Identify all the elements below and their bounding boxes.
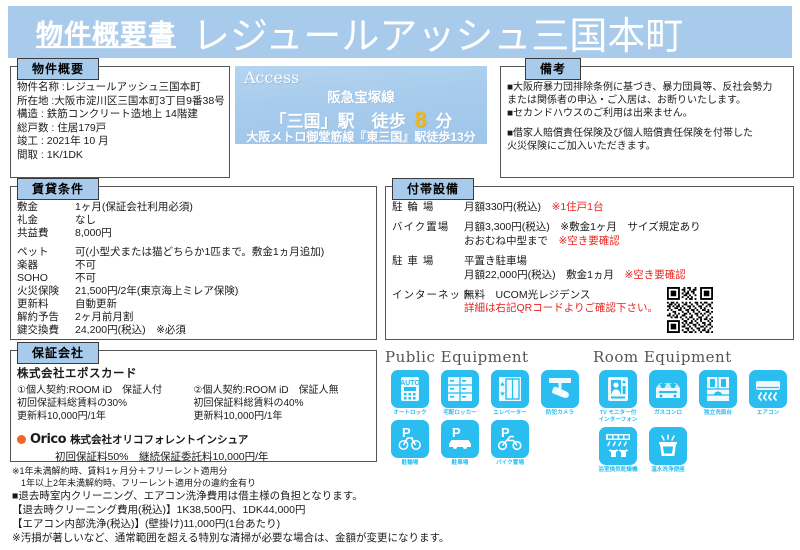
rent-condition-row: 鍵交換費24,200円(税込) ※必須 <box>17 324 370 337</box>
overview-line: 構造 : 鉄筋コンクリート造地上 14階建 <box>17 108 223 122</box>
rent-condition-row: SOHO不可 <box>17 272 370 285</box>
rent-condition-value: 1ヶ月(保証会社利用必須) <box>75 201 370 214</box>
footnote-line: ※1年未満解約時、賃料1ヶ月分＋フリーレント適用分 <box>12 466 412 478</box>
remarks-body: ■大阪府暴力団排除条例に基づき、暴力団員等、反社会勢力または関係者の申込・ご入居… <box>501 67 793 157</box>
rent-condition-label: 敷金 <box>17 201 75 214</box>
guarantee-plan-line: ①個人契約:ROOM iD 保証人付 <box>17 384 194 397</box>
public-equipment-item: P駐輪場 <box>385 420 435 467</box>
rent-condition-row: 楽器不可 <box>17 259 370 272</box>
rent-conditions-body: 敷金1ヶ月(保証会社利用必須)礼金なし共益費8,000円ペット可(小型犬または猫… <box>11 187 376 341</box>
rent-condition-label: SOHO <box>17 272 75 285</box>
overview-line: 総戸数 : 住居179戸 <box>17 122 223 136</box>
rent-condition-row: 更新料自動更新 <box>17 298 370 311</box>
room-equipment-item: 浴室換気乾燥機 <box>593 427 643 474</box>
facility-sub-row: おおむね中型まで ※空き要確認 <box>464 235 787 248</box>
rent-condition-row: ペット可(小型犬または猫どちらか1匹まで。敷金1ヵ月追加) <box>17 246 370 259</box>
orico-fee-text: 初回保証料50% 継続保証委託料10,000円/年 <box>55 449 370 464</box>
facility-sub-row: 月額22,000円(税込) 敷金1ヵ月 ※空き要確認 <box>464 269 787 282</box>
room-equipment-label: 浴室換気乾燥機 <box>598 467 637 474</box>
room-equipment-title: Room Equipment <box>593 348 795 366</box>
rent-condition-label: 楽器 <box>17 259 75 272</box>
rent-condition-label: 解約予告 <box>17 311 75 324</box>
facility-row: インターネット無料 UCOM光レジデンス <box>392 289 787 302</box>
footnote-line: 【退去時クリーニング費用(税込)】1K38,500円、1DK44,000円 <box>12 503 412 517</box>
motorbike-parking-icon: P <box>491 420 529 458</box>
orico-logo-row: Orico 株式会社オリコフォレントインシュア <box>17 432 370 447</box>
remarks-tab: 備考 <box>525 58 581 80</box>
public-equipment-item: AUTOオートロック <box>385 370 435 417</box>
guarantee-plan-line: 初回保証料総賃料の30% <box>17 397 194 410</box>
footnote-line: 1年以上2年未満解約時、フリーレント適用分の違約金有り <box>12 478 412 490</box>
qr-code-graphic <box>667 287 713 333</box>
tv-monitor-intercom-icon <box>599 370 637 408</box>
car-parking-icon: P <box>441 420 479 458</box>
elevator-icon <box>491 370 529 408</box>
property-overview-panel: 物件概要 物件名称 :レジュールアッシュ三国本町所在地 :大阪市淀川区三国本町3… <box>10 66 230 178</box>
bath-dryer-icon <box>599 427 637 465</box>
overview-line: 所在地 :大阪市淀川区三国本町3丁目9番38号 <box>17 95 223 109</box>
bicycle-parking-icon: P <box>391 420 429 458</box>
orico-wordmark: Orico <box>30 432 66 447</box>
rent-condition-value: 8,000円 <box>75 227 370 240</box>
rent-condition-value: 自動更新 <box>75 298 370 311</box>
separate-washbasin-icon <box>699 370 737 408</box>
guarantee-plan-line: 更新料10,000円/1年 <box>17 410 194 423</box>
rent-condition-value: 2ヶ月前月割 <box>75 311 370 324</box>
guarantee-plan-line: ②個人契約:ROOM iD 保証人無 <box>194 384 371 397</box>
room-equipment-grid: TV モニター付 インターフォンガスコンロ独立洗面台エアコン浴室換気乾燥機温水洗… <box>593 370 795 477</box>
overview-line: 物件名称 :レジュールアッシュ三国本町 <box>17 81 223 95</box>
rent-condition-value: 可(小型犬または猫どちらか1匹まで。敷金1ヵ月追加) <box>75 246 370 259</box>
overview-line: 間取 : 1K/1DK <box>17 149 223 163</box>
public-equipment-item: 防犯カメラ <box>535 370 585 417</box>
property-name-title: レジュールアッシュ三国本町 <box>192 5 683 60</box>
rent-condition-value: 不可 <box>75 272 370 285</box>
rent-condition-value: なし <box>75 214 370 227</box>
facility-sub-alert: ※空き要確認 <box>624 269 685 281</box>
facility-sub-alert: 詳細は右記QRコードよりご確認下さい。 <box>464 302 658 314</box>
facility-label: バイク置場 <box>392 221 464 234</box>
facility-sub-text: おおむね中型まで <box>464 235 559 247</box>
rent-condition-label: 火災保険 <box>17 285 75 298</box>
facilities-body: 駐 輪 場月額330円(税込) ※1住戸1台バイク置場月額3,300円(税込) … <box>386 187 793 320</box>
rent-condition-label: 鍵交換費 <box>17 324 75 337</box>
footnote-line: ※汚損が著しいなど、通常範囲を超える特別な清掃が必要な場合は、金額が変更になりま… <box>12 531 412 545</box>
facility-value-text: 月額3,300円(税込) ※敷金1ヶ月 サイズ規定あり <box>464 221 701 233</box>
facility-spacer <box>392 282 787 289</box>
guarantee-plans: ①個人契約:ROOM iD 保証人付初回保証料総賃料の30%更新料10,000円… <box>17 384 370 424</box>
facility-value-text: 無料 UCOM光レジデンス <box>464 289 590 301</box>
public-equipment-label: 駐車場 <box>452 460 469 467</box>
room-equipment-item: ガスコンロ <box>643 370 693 424</box>
guarantee-plan: ②個人契約:ROOM iD 保証人無初回保証料総賃料の40%更新料10,000円… <box>194 384 371 424</box>
remarks-line: ■大阪府暴力団排除条例に基づき、暴力団員等、反社会勢力 <box>507 81 787 94</box>
facility-value: 無料 UCOM光レジデンス <box>464 289 787 302</box>
facility-value-alert: ※1住戸1台 <box>552 201 604 213</box>
room-equipment-item: エアコン <box>743 370 793 424</box>
public-equipment-title: Public Equipment <box>385 348 585 366</box>
access-train-line: 阪急宝塚線 <box>235 86 487 106</box>
guarantee-plan-line: 更新料10,000円/1年 <box>194 410 371 423</box>
rent-condition-row: 敷金1ヶ月(保証会社利用必須) <box>17 201 370 214</box>
rent-condition-row: 火災保険21,500円/2年(東京海上ミレア保険) <box>17 285 370 298</box>
footnote-line: ■退去時室内クリーニング、エアコン洗浄費用は借主様の負担となります。 <box>12 489 412 503</box>
facility-label: インターネット <box>392 289 464 302</box>
guarantee-plan: ①個人契約:ROOM iD 保証人付初回保証料総賃料の30%更新料10,000円… <box>17 384 194 424</box>
overview-line: 竣工 : 2021年 10 月 <box>17 135 223 149</box>
room-equipment-label: エアコン <box>757 410 779 417</box>
rent-condition-row: 解約予告2ヶ月前月割 <box>17 311 370 324</box>
public-equipment-item: Pバイク置場 <box>485 420 535 467</box>
room-equipment-label: ガスコンロ <box>654 410 682 417</box>
room-equipment-item: 独立洗面台 <box>693 370 743 424</box>
svg-text:AUTO: AUTO <box>400 380 420 387</box>
facility-spacer <box>392 248 787 255</box>
access-title: Access <box>244 68 299 87</box>
room-equipment-label: TV モニター付 インターフォン <box>599 410 638 424</box>
document-type-title: 物件概要書 <box>36 13 176 52</box>
guarantee-plan-line: 初回保証料総賃料の40% <box>194 397 371 410</box>
facility-row: バイク置場月額3,300円(税込) ※敷金1ヶ月 サイズ規定あり <box>392 221 787 234</box>
rent-condition-label: 更新料 <box>17 298 75 311</box>
facility-sub-alert: ※空き要確認 <box>559 235 620 247</box>
property-overview-body: 物件名称 :レジュールアッシュ三国本町所在地 :大阪市淀川区三国本町3丁目9番3… <box>11 67 229 167</box>
access-panel: Access 阪急宝塚線 「三国」駅 徒歩 8 分 大阪メトロ御堂筋線『東三国』… <box>235 66 487 144</box>
public-equipment-label: 防犯カメラ <box>546 410 574 417</box>
remarks-line: ■セカンドハウスのご利用は出来ません。 <box>507 107 787 120</box>
remarks-panel: 備考 ■大阪府暴力団排除条例に基づき、暴力団員等、反社会勢力または関係者の申込・… <box>500 66 794 178</box>
rent-condition-label: ペット <box>17 246 75 259</box>
public-equipment-item: エレベーター <box>485 370 535 417</box>
room-equipment-label: 温水洗浄便座 <box>651 467 685 474</box>
rent-condition-value: 不可 <box>75 259 370 272</box>
rent-conditions-panel: 賃貸条件 敷金1ヶ月(保証会社利用必須)礼金なし共益費8,000円ペット可(小型… <box>10 186 377 340</box>
access-secondary-station: 大阪メトロ御堂筋線『東三国』駅徒歩13分 <box>235 128 487 145</box>
svg-text:P: P <box>452 425 461 440</box>
facility-label: 駐 輪 場 <box>392 201 464 214</box>
orico-dot-icon <box>17 435 26 444</box>
air-conditioner-icon <box>749 370 787 408</box>
facility-sub-row: 詳細は右記QRコードよりご確認下さい。 <box>464 302 787 315</box>
guarantee-company-name: 株式会社エポスカード <box>17 365 370 381</box>
security-camera-icon <box>541 370 579 408</box>
footnote-line: 【エアコン内部洗浄(税込)】(壁掛け)11,000円(1台あたり) <box>12 517 412 531</box>
public-equipment-label: エレベーター <box>493 410 527 417</box>
delivery-locker-icon <box>441 370 479 408</box>
rent-condition-value: 24,200円(税込) ※必須 <box>75 324 370 337</box>
facility-row: 駐 車 場平置き駐車場 <box>392 255 787 268</box>
public-equipment-label: 宅配ロッカー <box>443 410 477 417</box>
rent-condition-row: 共益費8,000円 <box>17 227 370 240</box>
remarks-line: 火災保険にご加入いただきます。 <box>507 140 787 153</box>
rent-condition-value: 21,500円/2年(東京海上ミレア保険) <box>75 285 370 298</box>
facility-value-text: 平置き駐車場 <box>464 255 527 267</box>
facility-value: 月額3,300円(税込) ※敷金1ヶ月 サイズ規定あり <box>464 221 787 234</box>
public-equipment-label: オートロック <box>393 410 427 417</box>
equipment-area: Public Equipment AUTOオートロック宅配ロッカーエレベーター防… <box>385 348 795 488</box>
gas-stove-icon <box>649 370 687 408</box>
rent-condition-row: 礼金なし <box>17 214 370 227</box>
property-overview-tab: 物件概要 <box>17 58 99 80</box>
facilities-tab: 付帯設備 <box>392 178 474 200</box>
room-equipment-item: TV モニター付 インターフォン <box>593 370 643 424</box>
orico-company-name: 株式会社オリコフォレントインシュア <box>70 432 248 447</box>
facility-value: 平置き駐車場 <box>464 255 787 268</box>
washlet-icon <box>649 427 687 465</box>
room-equipment-label: 独立洗面台 <box>704 410 732 417</box>
remarks-line: または関係者の申込・ご入居は、お断りいたします。 <box>507 94 787 107</box>
auto-lock-icon: AUTO <box>391 370 429 408</box>
public-equipment-item: 宅配ロッカー <box>435 370 485 417</box>
rent-conditions-tab: 賃貸条件 <box>17 178 99 200</box>
facility-value: 月額330円(税込) ※1住戸1台 <box>464 201 787 214</box>
remarks-line: ■借家人賠償責任保険及び個人賠償責任保険を付帯した <box>507 127 787 140</box>
rent-condition-label: 共益費 <box>17 227 75 240</box>
facility-value-text: 月額330円(税込) <box>464 201 552 213</box>
rent-condition-label: 礼金 <box>17 214 75 227</box>
public-equipment-label: 駐輪場 <box>402 460 419 467</box>
qr-code[interactable] <box>667 287 713 333</box>
document-header-banner: 物件概要書 レジュールアッシュ三国本町 <box>8 6 792 58</box>
public-equipment-label: バイク置場 <box>496 460 524 467</box>
public-equipment-grid: AUTOオートロック宅配ロッカーエレベーター防犯カメラP駐輪場P駐車場Pバイク置… <box>385 370 585 470</box>
public-equipment-item: P駐車場 <box>435 420 485 467</box>
room-equipment-section: Room Equipment TV モニター付 インターフォンガスコンロ独立洗面… <box>593 348 795 477</box>
facility-label: 駐 車 場 <box>392 255 464 268</box>
guarantee-company-body: 株式会社エポスカード ①個人契約:ROOM iD 保証人付初回保証料総賃料の30… <box>11 351 376 468</box>
facility-sub-text: 月額22,000円(税込) 敷金1ヵ月 <box>464 269 624 281</box>
public-equipment-section: Public Equipment AUTOオートロック宅配ロッカーエレベーター防… <box>385 348 585 470</box>
guarantee-company-panel: 保証会社 株式会社エポスカード ①個人契約:ROOM iD 保証人付初回保証料総… <box>10 350 377 462</box>
room-equipment-item: 温水洗浄便座 <box>643 427 693 474</box>
guarantee-company-tab: 保証会社 <box>17 342 99 364</box>
facility-row: 駐 輪 場月額330円(税込) ※1住戸1台 <box>392 201 787 214</box>
footnotes-block: ※1年未満解約時、賃料1ヶ月分＋フリーレント適用分1年以上2年未満解約時、フリー… <box>12 466 412 545</box>
facilities-panel: 付帯設備 駐 輪 場月額330円(税込) ※1住戸1台バイク置場月額3,300円… <box>385 186 794 340</box>
